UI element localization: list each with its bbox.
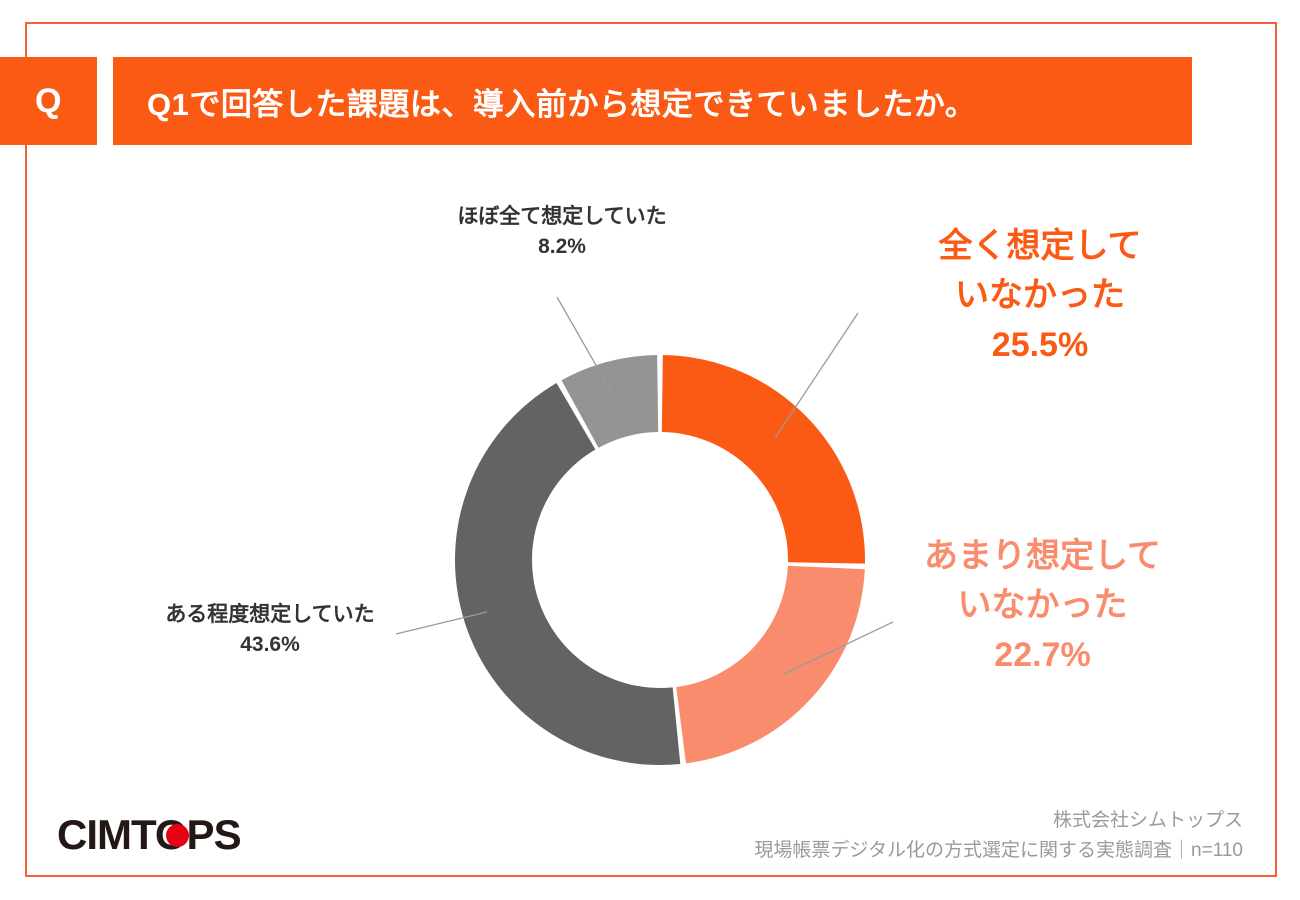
cimtops-logo-text: CIMTOPS [57, 811, 241, 859]
cimtops-logo-wordmark: CIMTOPS [57, 811, 241, 858]
slice-label-mattaku-pct: 25.5% [905, 321, 1175, 370]
footer-attribution: 株式会社シムトップス 現場帳票デジタル化の方式選定に関する実態調査｜n=110 [754, 806, 1243, 867]
slice-label-amari-pct: 22.7% [900, 631, 1185, 680]
question-badge: Q [0, 57, 97, 145]
question-badge-label: Q [35, 82, 62, 121]
slice-label-aruteido-name: ある程度想定していた [140, 600, 400, 630]
slice-label-amari-line1: あまり想定して [900, 532, 1185, 581]
cimtops-logo: CIMTOPS [57, 812, 241, 858]
slice-label-hobo-name: ほぼ全て想定していた [437, 202, 687, 232]
footer-company: 株式会社シムトップス [754, 806, 1243, 836]
slice-label-mattaku: 全く想定して いなかった 25.5% [905, 222, 1175, 370]
slice-label-hobo-pct: 8.2% [437, 232, 687, 262]
donut-slice-2 [676, 566, 865, 764]
slice-label-mattaku-line1: 全く想定して [905, 222, 1175, 271]
donut-slice-3 [455, 383, 680, 765]
donut-slice-1 [662, 355, 865, 564]
slice-label-hobo: ほぼ全て想定していた 8.2% [437, 202, 687, 263]
slice-label-amari-line2: いなかった [900, 581, 1185, 630]
slice-label-amari: あまり想定して いなかった 22.7% [900, 532, 1185, 680]
donut-chart [410, 310, 910, 810]
slice-label-aruteido: ある程度想定していた 43.6% [140, 600, 400, 661]
cimtops-logo-dot-icon [166, 824, 189, 847]
slice-label-aruteido-pct: 43.6% [140, 630, 400, 660]
question-title-bar: Q1で回答した課題は、導入前から想定できていましたか。 [113, 57, 1192, 145]
footer-survey: 現場帳票デジタル化の方式選定に関する実態調査｜n=110 [754, 836, 1243, 866]
page-title: Q1で回答した課題は、導入前から想定できていましたか。 [147, 79, 976, 124]
slice-label-mattaku-line2: いなかった [905, 271, 1175, 320]
